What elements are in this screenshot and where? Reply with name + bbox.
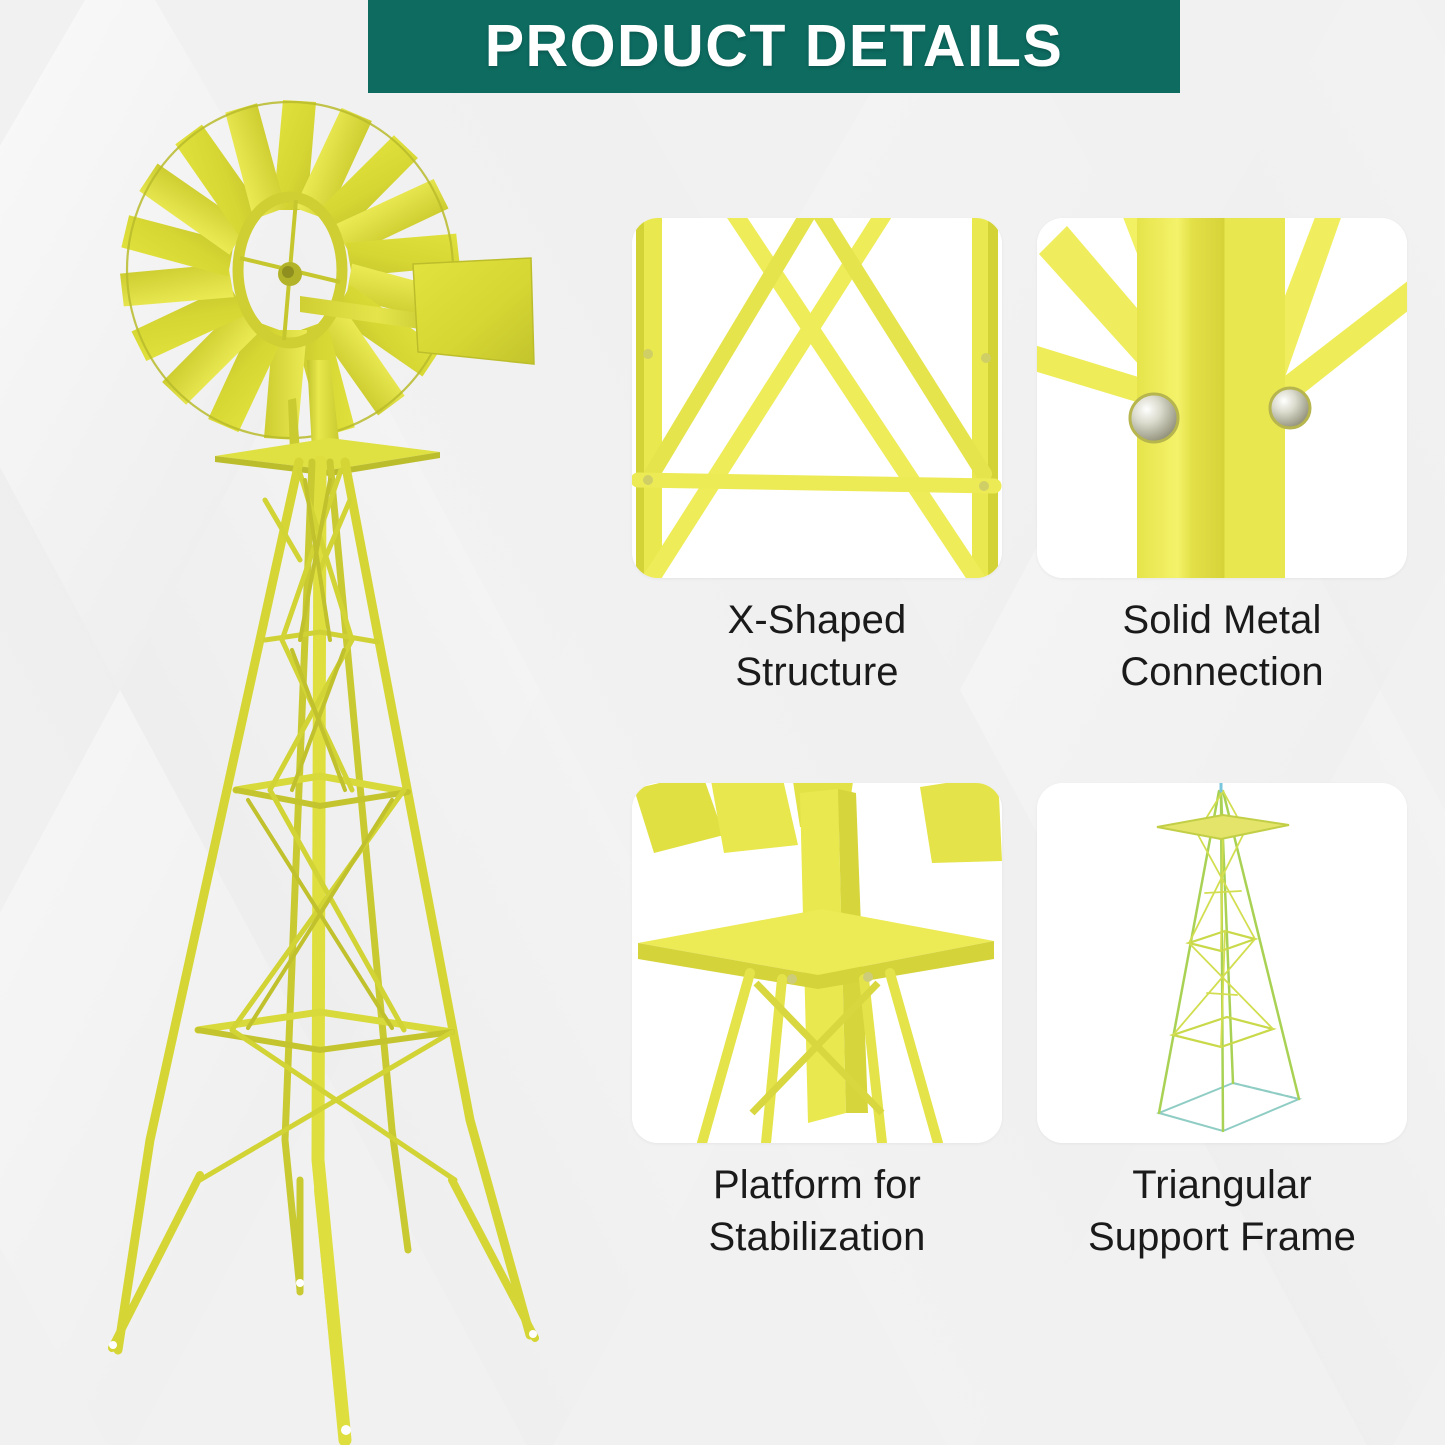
platform-plate-closeup-icon	[632, 783, 1002, 1143]
banner-title: PRODUCT DETAILS	[485, 17, 1064, 76]
bolted-joint-closeup-icon	[1037, 218, 1407, 578]
product-details-banner: PRODUCT DETAILS	[368, 0, 1180, 93]
detail-cards-grid: X-Shaped Structure Solid Metal Connectio…	[632, 218, 1407, 1333]
card-image-platform-for-stabilization	[632, 783, 1002, 1143]
windmill-illustration	[0, 0, 600, 1445]
caption-line-1: Triangular	[1088, 1159, 1356, 1211]
card-caption-triangular-support-frame: Triangular Support Frame	[1037, 1143, 1407, 1333]
caption-line-2: Support Frame	[1088, 1211, 1356, 1263]
caption-line-2: Connection	[1120, 646, 1323, 698]
card-caption-platform-for-stabilization: Platform for Stabilization	[632, 1143, 1002, 1333]
card-image-x-shaped-structure	[632, 218, 1002, 578]
caption-line-2: Stabilization	[709, 1211, 926, 1263]
hero-product-image	[0, 0, 600, 1445]
card-caption-x-shaped-structure: X-Shaped Structure	[632, 578, 1002, 783]
caption-line-2: Structure	[728, 646, 907, 698]
card-image-triangular-support-frame	[1037, 783, 1407, 1143]
caption-line-1: Solid Metal	[1120, 594, 1323, 646]
card-caption-solid-metal-connection: Solid Metal Connection	[1037, 578, 1407, 783]
card-image-solid-metal-connection	[1037, 218, 1407, 578]
caption-line-1: Platform for	[709, 1159, 926, 1211]
rotor-blades	[118, 100, 462, 440]
caption-line-1: X-Shaped	[728, 594, 907, 646]
tower-frame	[109, 462, 537, 1440]
tower-wireframe-diagram-icon	[1037, 783, 1407, 1143]
x-shaped-brace-closeup-icon	[632, 218, 1002, 578]
